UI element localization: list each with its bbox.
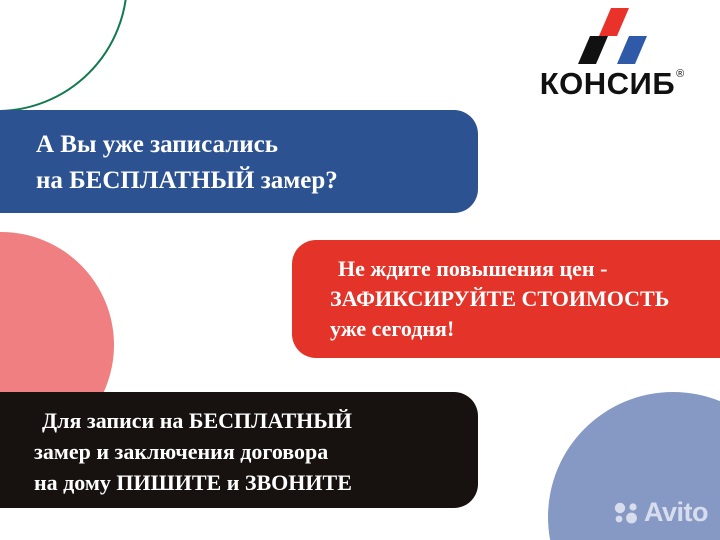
banner-red-line-3: уже сегодня! [330,314,720,344]
advertisement-poster: КОНСИБ ® А Вы уже записались на БЕСПЛАТН… [0,0,720,540]
banner-black-line-3: на дому ПИШИТЕ и ЗВОНИТЕ [34,467,478,498]
company-logo: КОНСИБ ® [522,8,702,99]
banner-blue-line-1: А Вы уже записались [36,127,478,163]
logo-wordmark-row: КОНСИБ ® [522,68,702,99]
avito-dots-icon [614,502,640,524]
banner-black-line-2: замер и заключения договора [34,436,478,467]
logo-wordmark: КОНСИБ [540,68,675,99]
banner-red-urgency: Не ждите повышения цен - ЗАФИКСИРУЙТЕ СТ… [292,240,720,358]
banner-red-line-1: Не ждите повышения цен - [330,254,720,284]
banner-black-call-to-action: Для записи на БЕСПЛАТНЫЙ замер и заключе… [0,392,478,508]
green-ring-decoration [0,0,128,112]
banner-blue-headline: А Вы уже записались на БЕСПЛАТНЫЙ замер? [0,110,478,213]
banner-blue-line-2: на БЕСПЛАТНЫЙ замер? [36,163,478,199]
avito-wordmark: Avito [644,499,708,526]
avito-watermark: Avito [614,499,708,526]
logo-mark-icon [577,8,647,66]
banner-black-line-1: Для записи на БЕСПЛАТНЫЙ [34,405,478,436]
registered-trademark-icon: ® [676,69,684,80]
banner-red-line-2: ЗАФИКСИРУЙТЕ СТОИМОСТЬ [330,284,720,314]
